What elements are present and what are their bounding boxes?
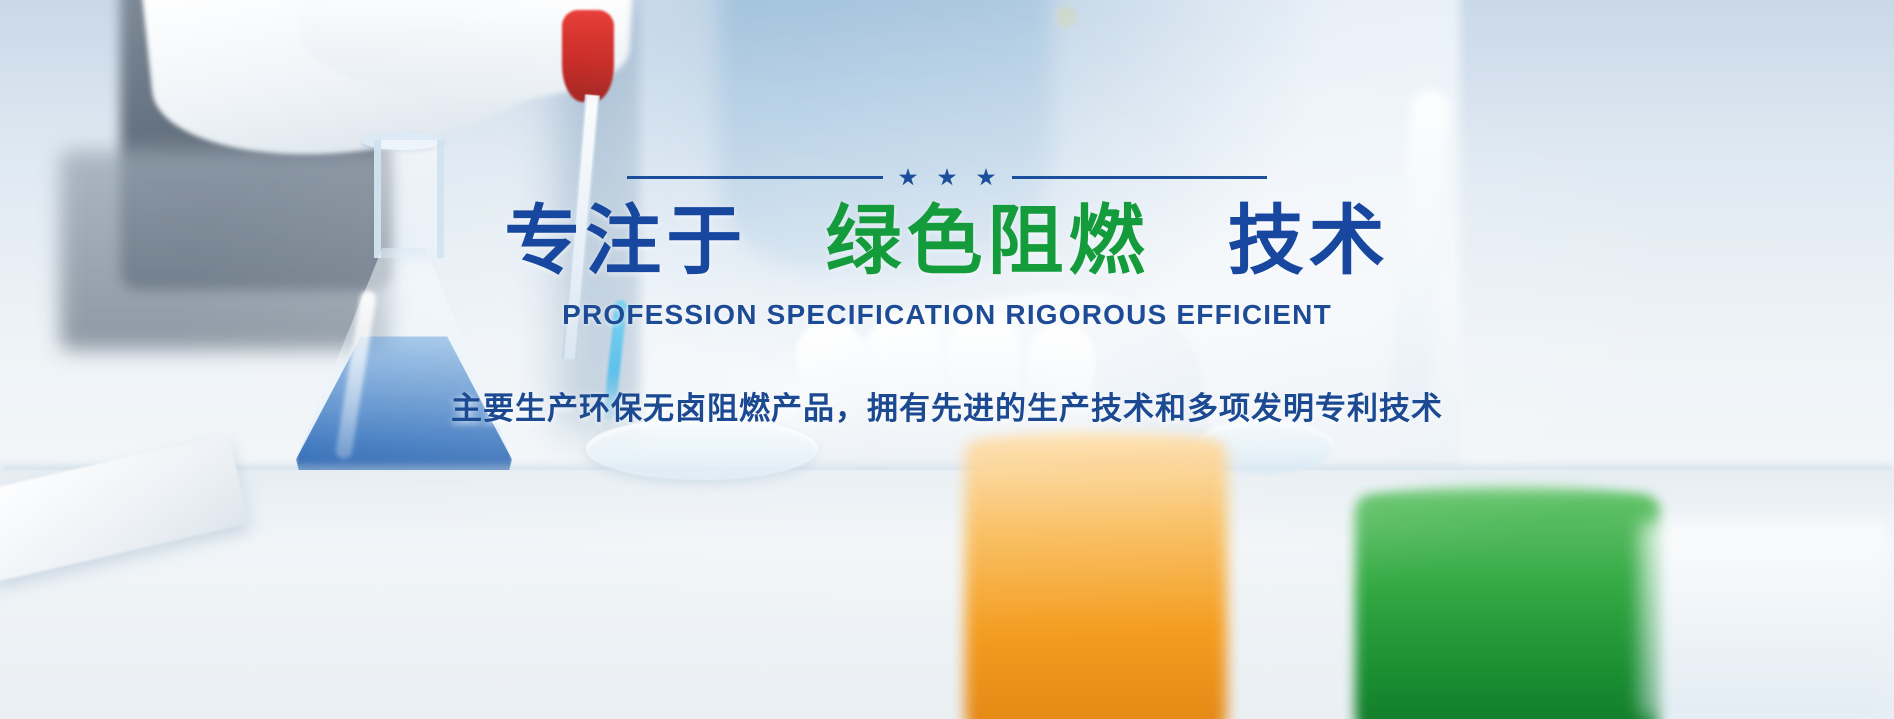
headline-part-2: 绿色阻燃: [826, 199, 1150, 284]
banner-description: 主要生产环保无卤阻燃产品，拥有先进的生产技术和多项发明专利技术: [451, 383, 1443, 428]
hero-banner: 专注于 绿色阻燃 技术 PROFESSION SPECIFICATION RIG…: [0, 0, 1894, 719]
rule-line-left: [627, 176, 883, 179]
headline-part-3: 技术: [1228, 199, 1390, 284]
rule-line-right: [1012, 176, 1268, 179]
banner-text-overlay: 专注于 绿色阻燃 技术 PROFESSION SPECIFICATION RIG…: [0, 0, 1894, 719]
star-icon: [977, 168, 996, 187]
star-icon: [899, 168, 918, 187]
star-group: [899, 168, 996, 187]
star-icon: [938, 168, 957, 187]
english-tagline: PROFESSION SPECIFICATION RIGOROUS EFFICI…: [562, 299, 1332, 331]
banner-headline: 专注于 绿色阻燃 技术: [504, 201, 1390, 283]
headline-part-1: 专注于: [504, 199, 747, 284]
decorative-rule: [627, 168, 1267, 187]
